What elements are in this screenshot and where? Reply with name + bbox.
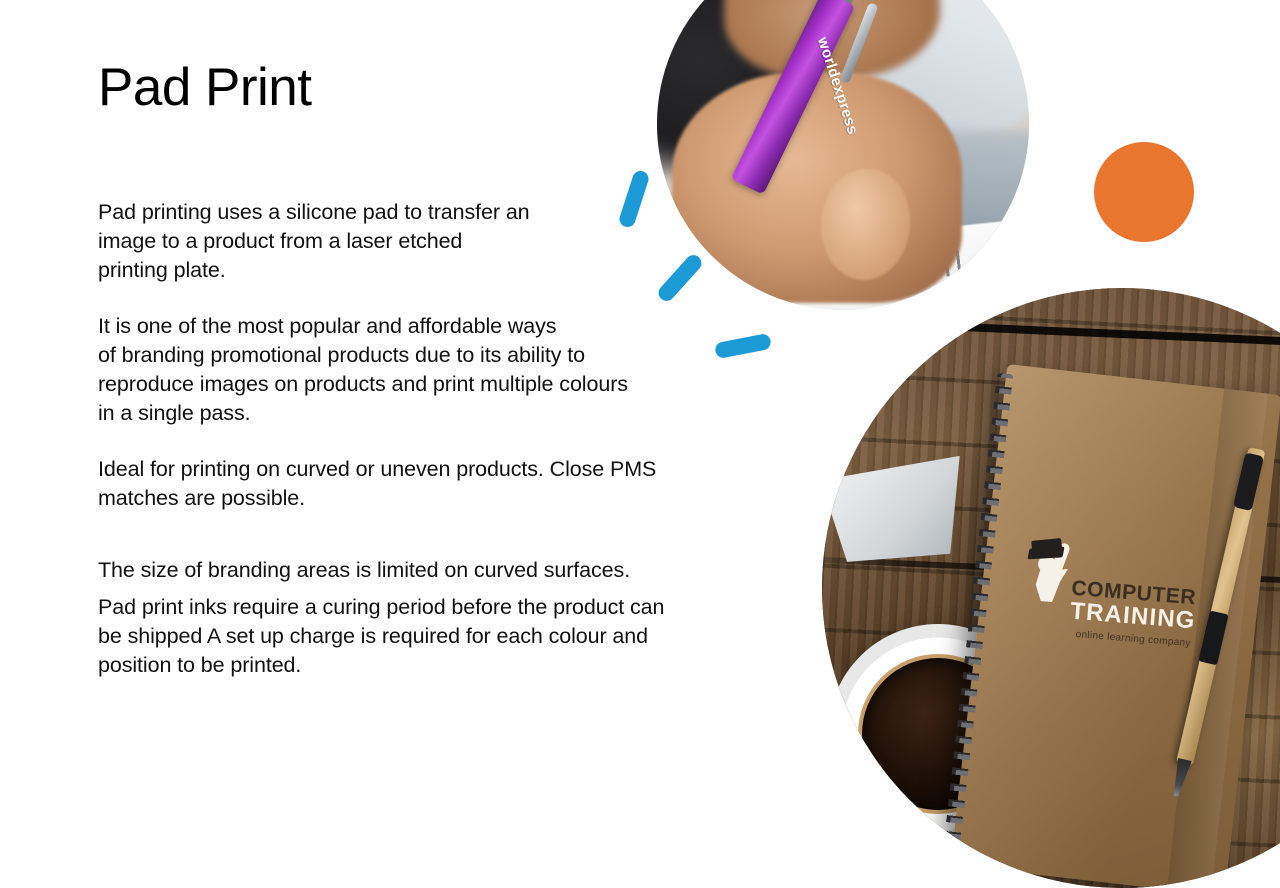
pen-photo-scene: worldexpress: [657, 0, 1029, 310]
kraft-notebook: COMPUTER TRAINING online learning compan…: [950, 364, 1280, 888]
paragraph-line: of branding promotional products due to …: [98, 341, 628, 370]
branded-notebook-photo: COMPUTER TRAINING online learning compan…: [822, 288, 1280, 888]
notebook-logo: COMPUTER TRAINING online learning compan…: [1014, 542, 1236, 653]
pen-photo-writing-hand: [672, 72, 962, 303]
paragraph-line: It is one of the most popular and afford…: [98, 312, 628, 341]
body-paragraph-5: Pad print inks require a curing period b…: [98, 593, 664, 680]
blue-dash-decoration-3: [714, 333, 772, 359]
blue-dash-decoration-1: [617, 169, 650, 229]
paragraph-line: printing plate.: [98, 256, 530, 285]
paragraph-line: Pad print inks require a curing period b…: [98, 593, 664, 622]
paragraph-line: in a single pass.: [98, 399, 628, 428]
paragraph-line: reproduce images on products and print m…: [98, 370, 628, 399]
slide-canvas: Pad Print Pad printing uses a silicone p…: [0, 0, 1280, 720]
body-paragraph-1: Pad printing uses a silicone pad to tran…: [98, 198, 530, 285]
body-paragraph-2: It is one of the most popular and afford…: [98, 312, 628, 428]
paragraph-line: position to be printed.: [98, 651, 664, 680]
graduation-cap-figure-icon: [1023, 542, 1081, 604]
paragraph-line: image to a product from a laser etched: [98, 227, 530, 256]
paragraph-line: matches are possible.: [98, 484, 656, 513]
paragraph-line: be shipped A set up charge is required f…: [98, 622, 664, 651]
writing-hand-pen-photo: worldexpress: [657, 0, 1029, 310]
orange-circle-decoration: [1094, 142, 1194, 242]
body-paragraph-3: Ideal for printing on curved or uneven p…: [98, 455, 656, 513]
body-paragraph-4: The size of branding areas is limited on…: [98, 556, 630, 585]
paragraph-line: The size of branding areas is limited on…: [98, 556, 630, 585]
paragraph-line: Ideal for printing on curved or uneven p…: [98, 455, 656, 484]
paragraph-line: Pad printing uses a silicone pad to tran…: [98, 198, 530, 227]
